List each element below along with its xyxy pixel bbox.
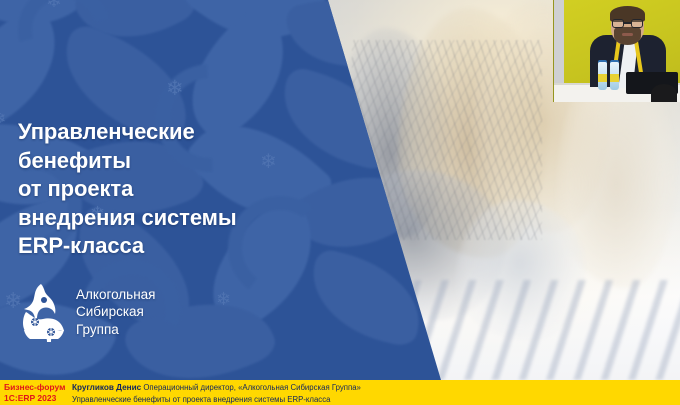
lower-third-bar: Бизнес-форум 1C:ERP 2023 Кругликов Денис… [0,380,680,405]
company-name: Алкогольная Сибирская Группа [76,286,155,339]
speaker-beard [614,27,641,45]
title-line-1: Управленческие [18,118,338,147]
speaker-info: Кругликов Денис Операционный директор, «… [68,380,680,405]
title-line-2: бенефиты [18,147,338,176]
company-name-line-3: Группа [76,321,155,339]
siberian-horse-emblem-icon [20,282,64,342]
speaker-mouth [622,33,633,36]
forum-badge-line-1: Бизнес-форум [4,382,68,393]
presentation-stage: ❄ ❄ ❄ ❄ ❄ ❄ ❄ ❄ Управленческие бенефиты … [0,0,680,405]
slide-canvas: ❄ ❄ ❄ ❄ ❄ ❄ ❄ ❄ Управленческие бенефиты … [0,0,680,380]
eyeglasses-icon [612,19,624,28]
title-line-5: ERP-класса [18,232,338,261]
speaker-role: Операционный директор, «Алкогольная Сиби… [143,383,361,392]
slide-title: Управленческие бенефиты от проекта внедр… [18,118,338,261]
speaker-name: Кругликов Денис [72,383,141,392]
snowflake-icon: ❄ [166,78,184,99]
snowflake-icon: ❄ [46,0,62,11]
bottle-label [598,74,607,82]
eyeglasses-bridge [624,22,631,24]
eyeglasses-icon [631,19,643,28]
company-name-line-2: Сибирская [76,303,155,321]
forum-badge-line-2: 1C:ERP 2023 [4,393,68,404]
snowflake-icon: ❄ [0,110,6,127]
title-line-3: от проекта [18,175,338,204]
speaker-line: Кругликов Денис Операционный директор, «… [72,382,680,394]
audience-head [651,84,677,102]
bottle-label [610,74,619,82]
company-logo: Алкогольная Сибирская Группа [20,282,155,342]
snowflake-icon: ❄ [216,290,231,308]
forum-badge: Бизнес-форум 1C:ERP 2023 [0,380,68,405]
title-line-4: внедрения системы [18,204,338,233]
speaker-camera-feed[interactable] [553,0,680,102]
talk-title: Управленческие бенефиты от проекта внедр… [72,394,680,405]
company-name-line-1: Алкогольная [76,286,155,304]
